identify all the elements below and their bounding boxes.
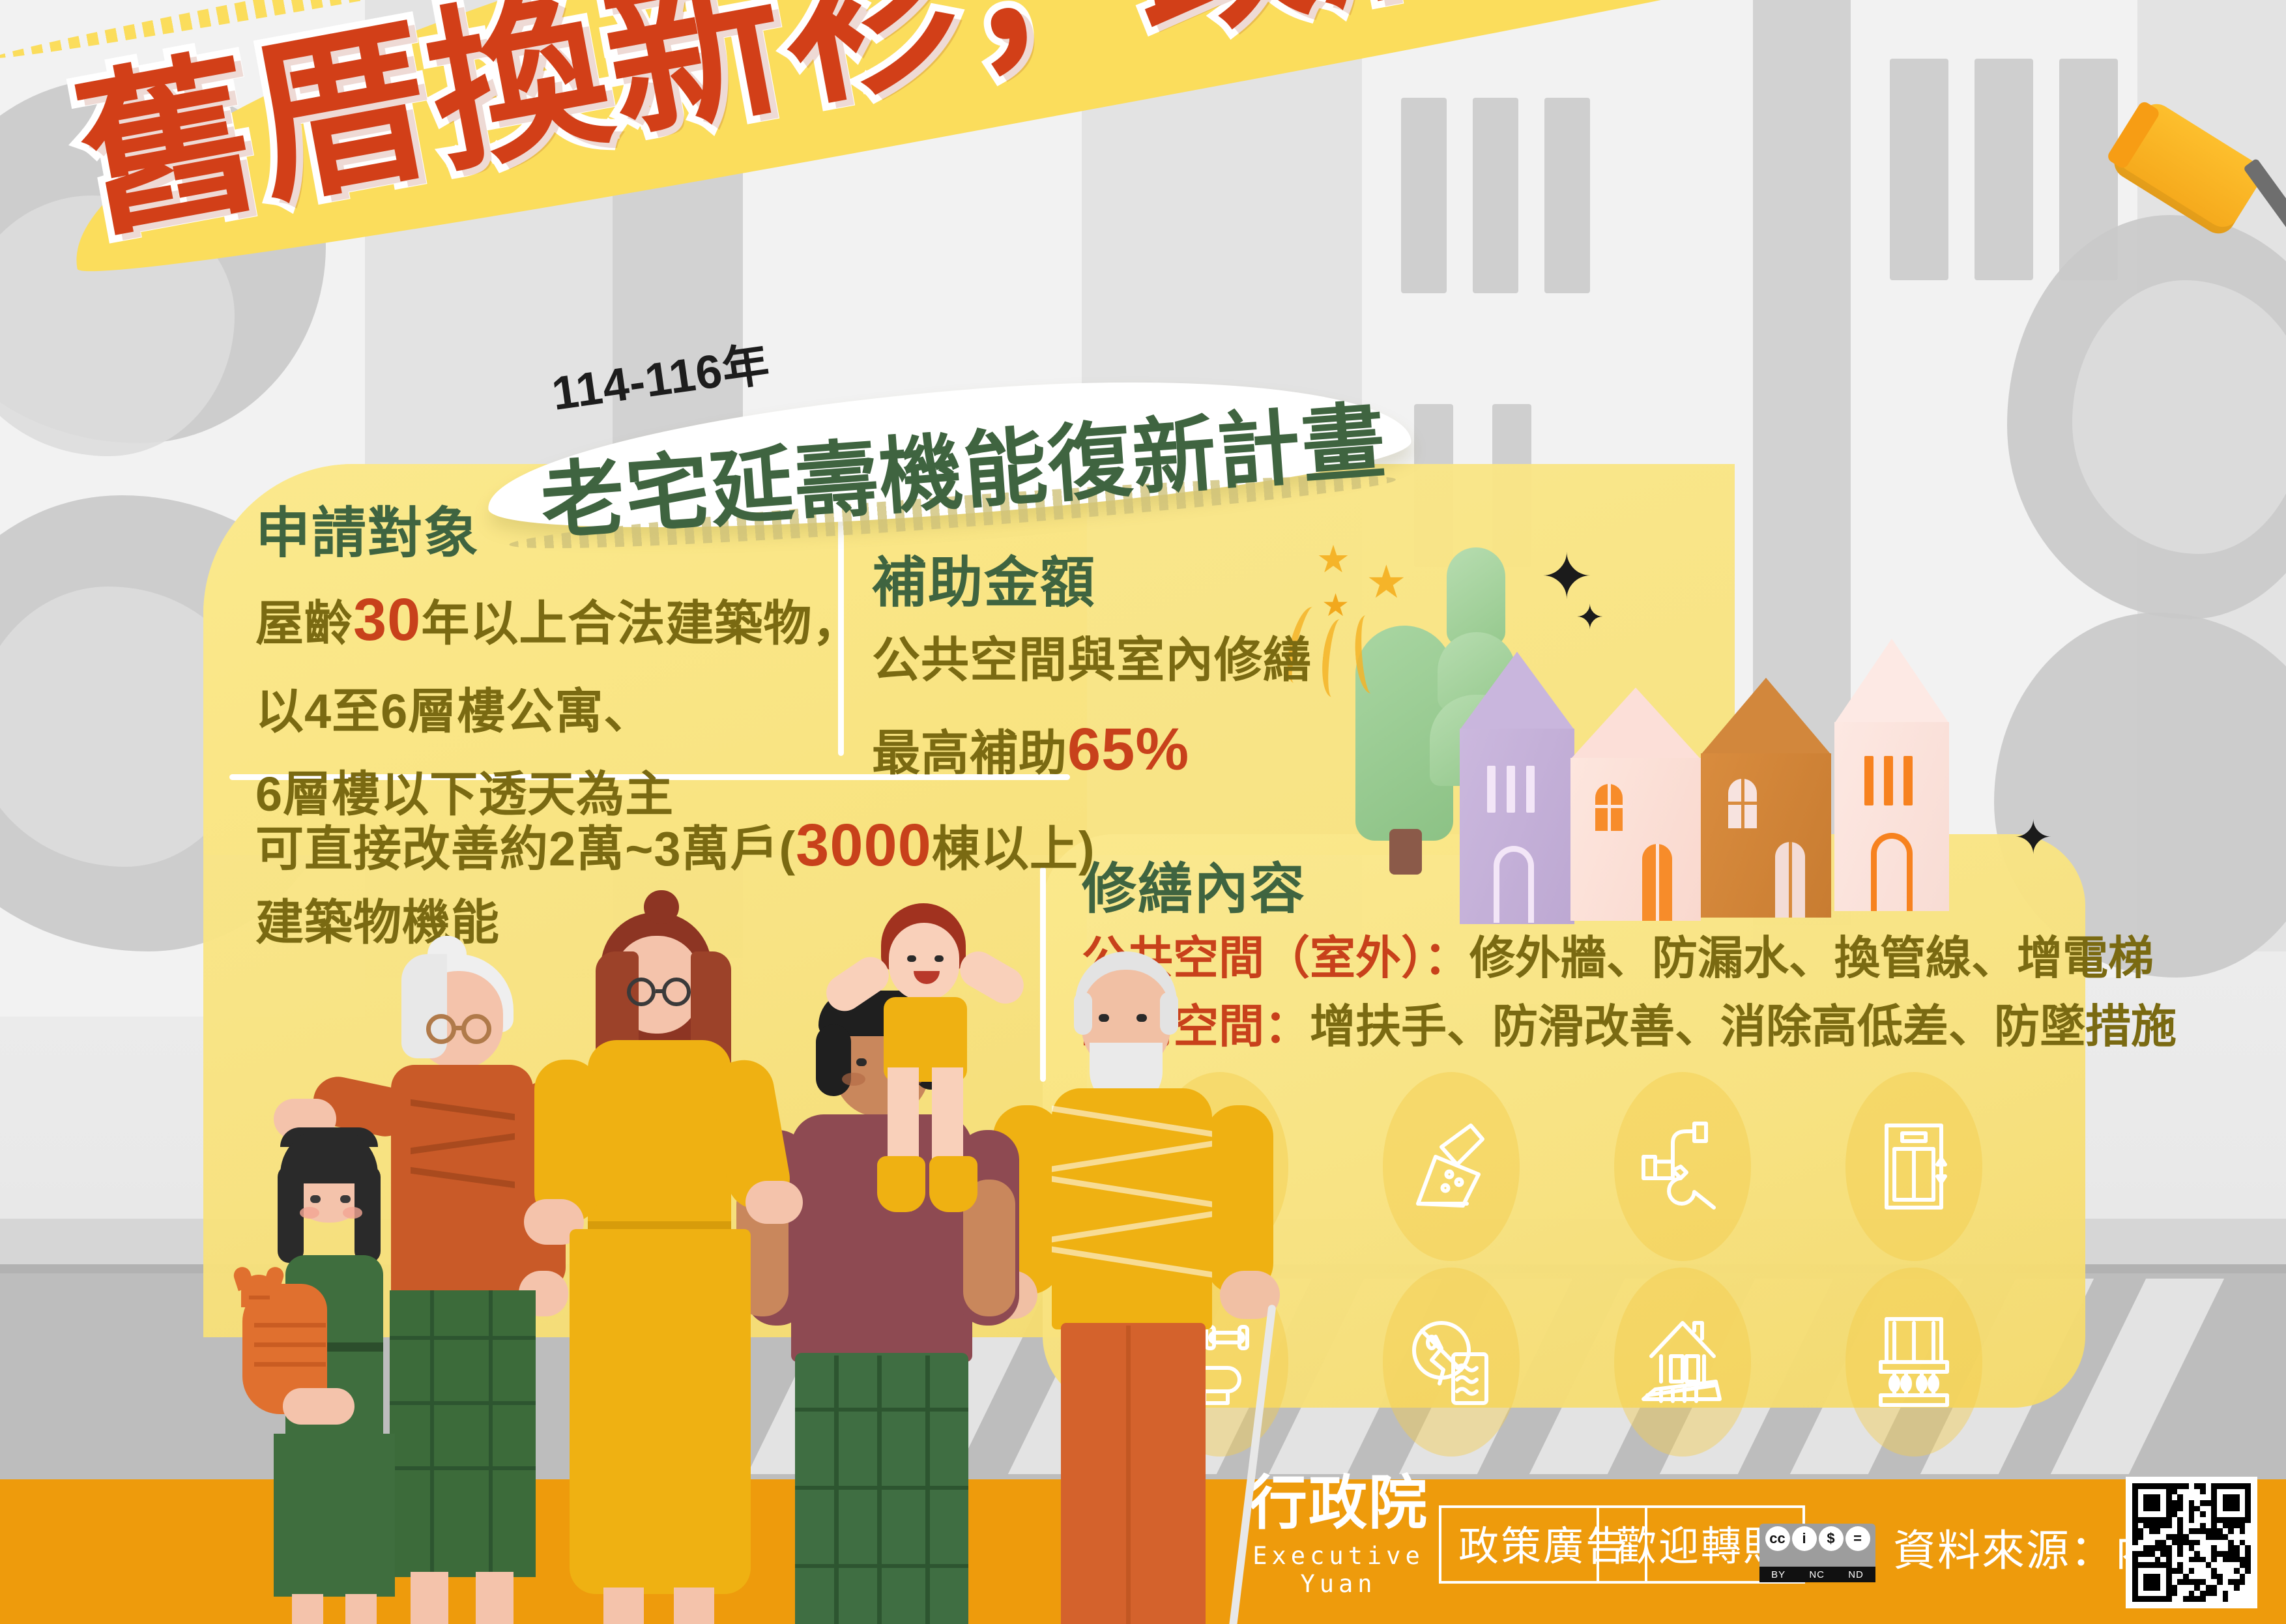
cc-nd-label: ND — [1848, 1569, 1864, 1580]
units-line-1: 可直接改善約2萬~3萬戶(3000棟以上) — [255, 803, 1095, 888]
repair-row-indoor-items: 增扶手、防滑改善、消除高低差、防墜措施 — [1310, 1001, 2177, 1052]
units-line-1-highlight: 3000 — [796, 812, 932, 878]
bg-window — [1975, 59, 2033, 280]
cc-by-icon: i — [1792, 1526, 1817, 1551]
bg-window — [1401, 98, 1447, 293]
amount-line-2-pre: 最高補助 — [872, 726, 1067, 780]
star-icon: ★ — [1322, 590, 1350, 622]
repair-row-indoor: 室內空間：增扶手、防滑改善、消除高低差、防墜措施 — [1082, 993, 2177, 1061]
poster-root: 舊厝換新衫，政府作伙擔！ — [0, 0, 2286, 1624]
cc-by-label: BY — [1771, 1569, 1786, 1580]
sparkle-icon: ✦ — [2014, 815, 2053, 862]
cc-label-bar: BY NC ND — [1759, 1567, 1875, 1582]
elevator-icon — [1798, 1069, 2029, 1264]
applicant-line-1: 屋齡30年以上合法建築物， — [255, 577, 861, 663]
repair-row-public-items: 修外牆、防漏水、換管線、增電梯 — [1469, 933, 2154, 983]
amount-heading: 補助金額 — [872, 553, 1312, 613]
qr-code[interactable] — [2126, 1477, 2257, 1608]
section-applicant: 申請對象 屋齡30年以上合法建築物， 以4至6層樓公寓、 6層樓以下透天為主 — [255, 503, 861, 828]
star-icon: ★ — [1366, 559, 1407, 605]
units-line-1-pre: 可直接改善約2萬~3萬戶( — [255, 822, 796, 876]
units-line-1-post: 棟以上) — [932, 822, 1095, 876]
qr-code-matrix — [2132, 1483, 2251, 1602]
cc-nc-icon: $ — [1819, 1526, 1844, 1551]
applicant-heading: 申請對象 — [255, 503, 861, 563]
pipe-wrench-icon — [1567, 1069, 1798, 1264]
amount-line-2-highlight: 65% — [1067, 716, 1189, 783]
creative-commons-badge: cc i $ = BY NC ND — [1759, 1524, 1875, 1582]
ramp-house-icon — [1567, 1264, 1798, 1460]
applicant-line-1-post: 年以上合法建築物， — [421, 596, 861, 650]
anti-slip-icon — [1335, 1264, 1567, 1460]
logo-chinese-name: 行政院 — [1241, 1474, 1436, 1533]
balcony-railing-icon — [1798, 1264, 2029, 1460]
sparkle-icon: ✦ — [1576, 601, 1604, 635]
amount-line-1: 公共空間與室內修繕 — [872, 626, 1312, 694]
executive-yuan-logo: 行政院 Executive Yuan — [1241, 1474, 1436, 1598]
amount-line-2: 最高補助65% — [872, 707, 1312, 792]
cc-nd-icon: = — [1845, 1526, 1870, 1551]
applicant-line-2: 以4至6層樓公寓、 — [255, 677, 861, 746]
waterproof-trowel-icon — [1335, 1069, 1567, 1264]
star-icon: ★ — [1316, 541, 1350, 579]
cc-nc-label: NC — [1809, 1569, 1825, 1580]
bg-window — [1544, 98, 1590, 293]
applicant-line-1-highlight: 30 — [353, 587, 421, 653]
logo-english-name: Executive Yuan — [1241, 1542, 1436, 1598]
bg-window — [1890, 59, 1948, 280]
applicant-line-1-pre: 屋齡 — [255, 596, 353, 650]
repair-row-public: 公共空間（室外）：修外牆、防漏水、換管線、增電梯 — [1082, 924, 2177, 993]
section-amount: 補助金額 公共空間與室內修繕 最高補助65% — [872, 553, 1312, 792]
cc-icon: cc — [1765, 1526, 1790, 1551]
bg-window — [1473, 98, 1518, 293]
